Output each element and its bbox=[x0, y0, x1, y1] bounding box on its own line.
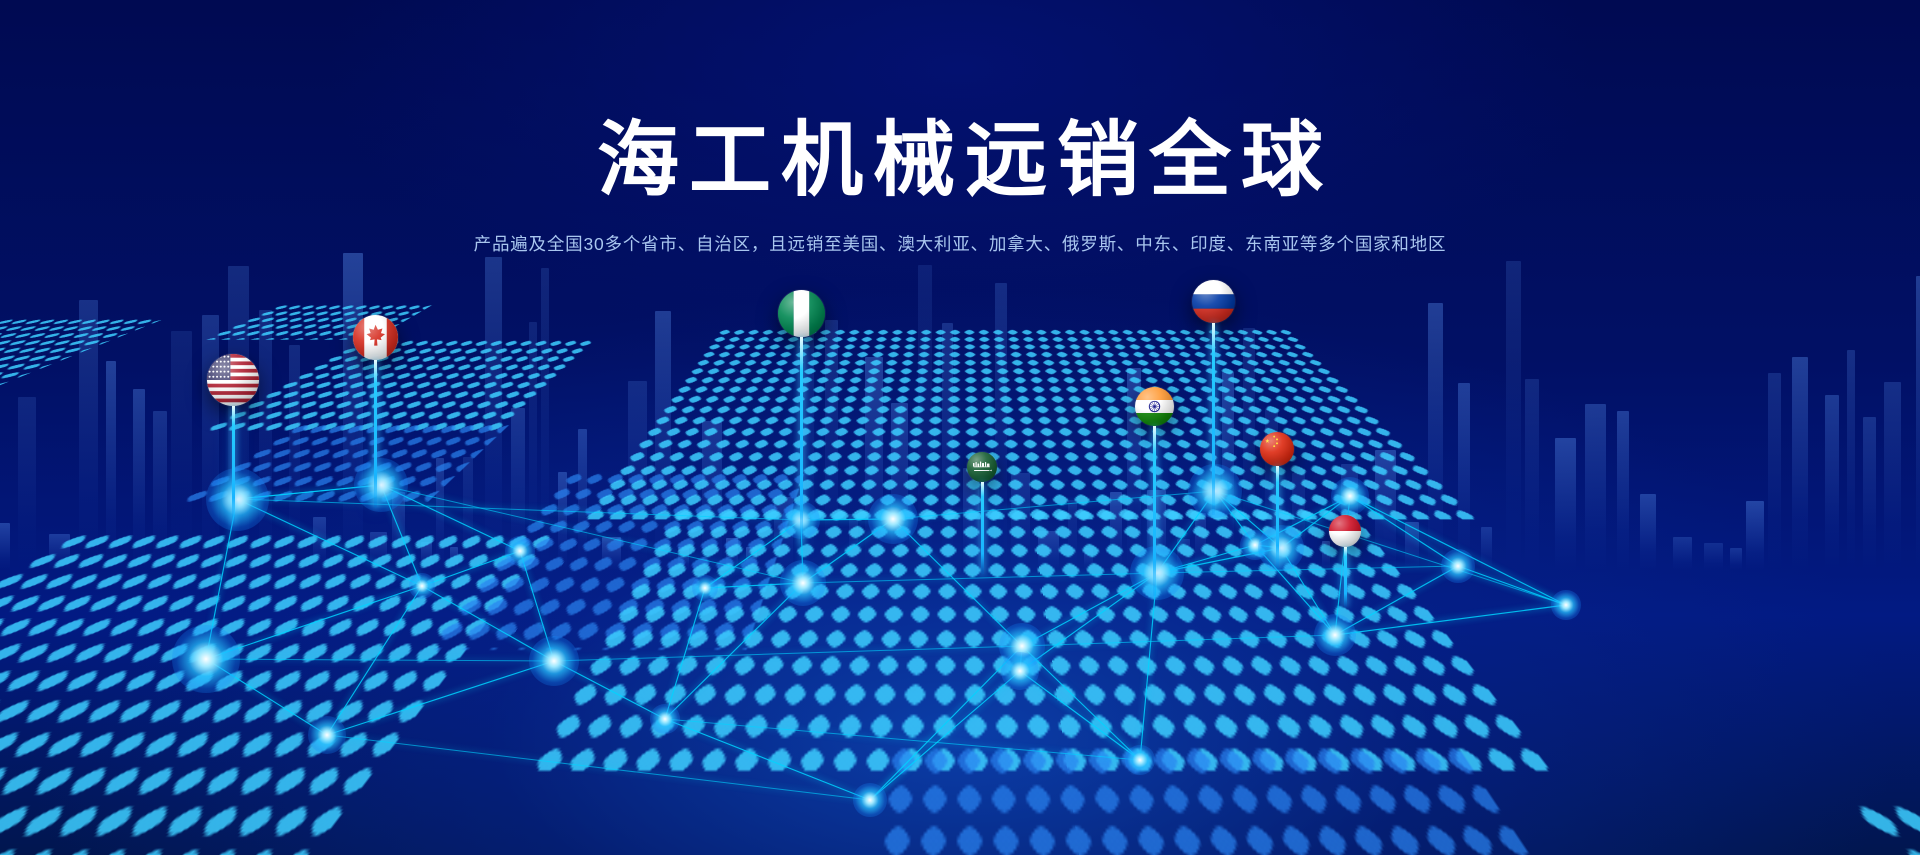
map-pin-ru[interactable] bbox=[1192, 280, 1235, 323]
network-node-glow bbox=[692, 575, 717, 600]
united-states-flag bbox=[207, 354, 259, 406]
network-line bbox=[1020, 671, 1140, 760]
map-pin-id[interactable] bbox=[1329, 515, 1361, 547]
network-node-glow bbox=[1331, 477, 1369, 515]
map-pin-sa[interactable] bbox=[967, 452, 997, 482]
map-pin-cn[interactable] bbox=[1260, 432, 1294, 466]
indonesia-flag bbox=[1329, 515, 1361, 547]
network-line bbox=[1022, 646, 1140, 760]
global-sales-banner: 海工机械远销全球 产品遍及全国30多个省市、自治区，且远销至美国、澳大利亚、加拿… bbox=[0, 0, 1920, 855]
network-node-glow bbox=[409, 573, 434, 598]
network-line-long bbox=[554, 646, 1022, 661]
network-node-glow bbox=[1125, 745, 1154, 774]
map-pin-ng[interactable] bbox=[778, 290, 825, 337]
network-line bbox=[1458, 566, 1566, 605]
map-pin-stem bbox=[374, 360, 377, 508]
saudi-arabia-flag bbox=[967, 452, 997, 482]
map-pin-stem bbox=[1153, 426, 1156, 596]
network-node-glow bbox=[308, 716, 346, 754]
nigeria-flag bbox=[778, 290, 825, 337]
network-node-glow bbox=[206, 468, 269, 531]
network-node-glow bbox=[1258, 525, 1304, 571]
banner-text-block: 海工机械远销全球 产品遍及全国30多个省市、自治区，且远销至美国、澳大利亚、加拿… bbox=[0, 118, 1920, 256]
india-flag bbox=[1135, 387, 1174, 426]
network-line-long bbox=[1157, 566, 1458, 573]
network-node-glow bbox=[853, 783, 887, 817]
network-node-glow bbox=[1441, 549, 1475, 583]
network-line bbox=[870, 671, 1020, 800]
map-pin-stem bbox=[800, 337, 803, 545]
network-node-glow bbox=[1188, 464, 1243, 519]
network-node-glow bbox=[1130, 546, 1185, 601]
map-pin-us[interactable] bbox=[207, 354, 259, 406]
network-node-glow bbox=[529, 636, 579, 686]
network-line bbox=[1140, 573, 1157, 760]
map-pin-stem bbox=[1276, 466, 1279, 568]
network-node-glow bbox=[780, 560, 826, 606]
map-pin-in[interactable] bbox=[1135, 387, 1174, 426]
page-title: 海工机械远销全球 bbox=[0, 118, 1920, 205]
network-node-glow bbox=[1314, 614, 1356, 656]
network-line-long bbox=[665, 719, 1140, 760]
network-node-glow bbox=[868, 494, 918, 544]
network-line bbox=[327, 661, 554, 735]
canada-flag bbox=[353, 315, 398, 360]
network-line bbox=[893, 519, 1022, 646]
map-pin-stem bbox=[981, 482, 984, 574]
network-node-glow bbox=[354, 458, 409, 513]
network-node-glow bbox=[1551, 590, 1580, 619]
network-node-glow bbox=[1001, 652, 1039, 690]
network-line-long bbox=[893, 491, 1215, 519]
page-subtitle: 产品遍及全国30多个省市、自治区，且远销至美国、澳大利亚、加拿大、俄罗斯、中东、… bbox=[0, 231, 1920, 256]
network-line-long bbox=[381, 485, 803, 583]
network-line bbox=[870, 646, 1022, 800]
network-line bbox=[1335, 605, 1566, 635]
network-node-glow bbox=[650, 704, 679, 733]
network-node-glow bbox=[505, 536, 534, 565]
network-line-long bbox=[803, 573, 1157, 583]
russia-flag bbox=[1192, 280, 1235, 323]
network-line-long bbox=[206, 659, 554, 661]
map-pin-ca[interactable] bbox=[353, 315, 398, 360]
network-node-glow bbox=[172, 625, 239, 692]
china-flag bbox=[1260, 432, 1294, 466]
network-line bbox=[1350, 496, 1458, 566]
map-pin-stem bbox=[232, 406, 235, 524]
map-pin-stem bbox=[1344, 547, 1347, 607]
map-pin-stem bbox=[1212, 323, 1215, 515]
